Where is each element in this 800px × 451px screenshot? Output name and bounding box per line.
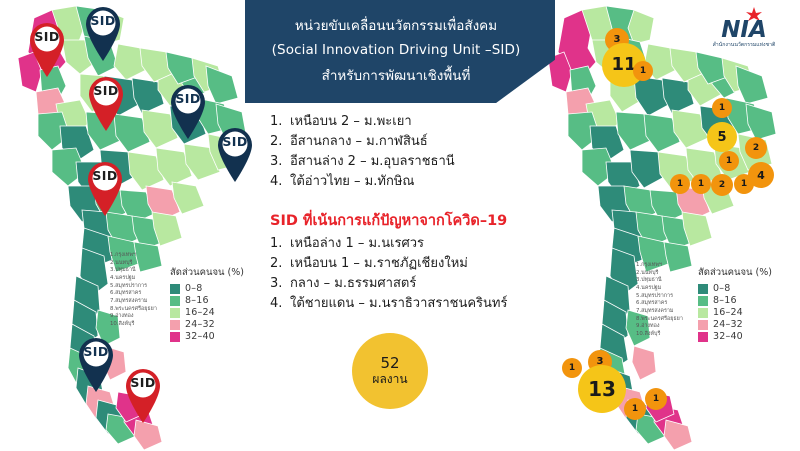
list-text: ใต้ชายแดน – ม.นราธิวาสราชนครินทร์	[290, 294, 507, 314]
province-index-item: 3.ปทุมธานี	[110, 267, 157, 275]
list-text: เหนือบน 2 – ม.พะเยา	[290, 112, 412, 132]
sid-pin-label: SID	[80, 13, 126, 28]
province-index-item: 3.ปทุมธานี	[636, 277, 683, 285]
legend-label: 32–40	[185, 330, 215, 344]
banner-line-thai-1: หน่วยขับเคลื่อนนวัตกรรมเพื่อสังคม	[295, 14, 497, 36]
sid-map-pin[interactable]: SID	[212, 125, 258, 183]
banner-line-english: (Social Innovation Driving Unit –SID)	[272, 42, 521, 58]
sid-map-pin[interactable]: SID	[24, 20, 70, 78]
list-item: 1.เหนือล่าง 1 – ม.นเรศวร	[270, 234, 560, 254]
province-index-item: 6.สมุทรสาคร	[110, 290, 157, 298]
sid-map-pin[interactable]: SID	[73, 335, 119, 393]
list-number: 3.	[270, 152, 290, 172]
count-bubble: 2	[745, 137, 767, 159]
list-item: 4.ใต้อ่าวไทย – ม.ทักษิณ	[270, 172, 560, 192]
list-item: 2.เหนือบน 1 – ม.ราชภัฏเชียงใหม่	[270, 254, 560, 274]
legend-swatch	[170, 308, 180, 318]
nia-tagline: สำนักงานนวัตกรรมแห่งชาติ	[713, 41, 776, 48]
legend-right: สัดส่วนคนจน (%) 0–8 8–16 16–24 24–32 32–…	[698, 266, 772, 343]
slide-canvas: 1.กรุงเทพฯ 2.นนทบุรี 3.ปทุมธานี 4.นครปฐม…	[0, 0, 800, 451]
sid-pin-label: SID	[165, 91, 211, 106]
legend-swatch	[698, 284, 708, 294]
legend-left: สัดส่วนคนจน (%) 0–8 8–16 16–24 24–32 32–…	[170, 266, 244, 343]
covid-university-list: 1.เหนือล่าง 1 – ม.นเรศวร 2.เหนือบน 1 – ม…	[270, 234, 560, 315]
province-index-item: 1.กรุงเทพฯ	[636, 262, 683, 270]
count-bubble: 1	[734, 174, 754, 194]
covid-section-heading: SID ที่เน้นการแก้ปัญหาจากโควิด–19	[270, 209, 560, 232]
banner-line-thai-2: สำหรับการพัฒนาเชิงพื้นที่	[322, 64, 471, 86]
legend-title: สัดส่วนคนจน (%)	[170, 266, 244, 280]
list-number: 2.	[270, 132, 290, 152]
province-index-item: 6.สมุทรสาคร	[636, 300, 683, 308]
province-index-left: 1.กรุงเทพฯ 2.นนทบุรี 3.ปทุมธานี 4.นครปฐม…	[110, 252, 157, 329]
legend-swatch	[170, 284, 180, 294]
thailand-map-right: 1.กรุงเทพฯ 2.นนทบุรี 3.ปทุมธานี 4.นครปฐม…	[530, 0, 800, 451]
sid-map-pin[interactable]: SID	[83, 74, 129, 132]
count-bubble: 13	[578, 365, 626, 413]
sid-pin-label: SID	[120, 375, 166, 390]
legend-swatch	[170, 296, 180, 306]
legend-swatch	[698, 332, 708, 342]
sid-map-pin[interactable]: SID	[120, 366, 166, 424]
sid-pin-label: SID	[73, 344, 119, 359]
count-bubble: 2	[711, 174, 733, 196]
count-bubble: 1	[712, 98, 732, 118]
list-number: 4.	[270, 172, 290, 192]
province-index-item: 9.อ่างทอง	[110, 313, 157, 321]
sid-university-list: 1.เหนือบน 2 – ม.พะเยา 2.อีสานกลาง – ม.กา…	[270, 112, 560, 193]
sid-pin-label: SID	[24, 29, 70, 44]
legend-swatch	[698, 296, 708, 306]
count-bubble: 1	[562, 358, 582, 378]
list-number: 3.	[270, 274, 290, 294]
province-index-item: 9.อ่างทอง	[636, 323, 683, 331]
list-number: 1.	[270, 234, 290, 254]
province-index-item: 1.กรุงเทพฯ	[110, 252, 157, 260]
count-bubble: 1	[645, 388, 667, 410]
sid-map-pin[interactable]: SID	[82, 159, 128, 217]
list-text: เหนือล่าง 1 – ม.นเรศวร	[290, 234, 424, 254]
legend-row: 32–40	[698, 331, 772, 343]
legend-title: สัดส่วนคนจน (%)	[698, 266, 772, 280]
list-item: 3.อีสานล่าง 2 – ม.อุบลราชธานี	[270, 152, 560, 172]
province-index-item: 4.นครปฐม	[636, 285, 683, 293]
list-number: 2.	[270, 254, 290, 274]
list-item: 3.กลาง – ม.ธรรมศาสตร์	[270, 274, 560, 294]
legend-swatch	[698, 320, 708, 330]
count-bubble: 1	[633, 61, 653, 81]
province-index-item: 7.สมุทรสงคราม	[636, 308, 683, 316]
nia-wordmark: NIA	[721, 17, 767, 43]
count-bubble: 1	[691, 174, 711, 194]
total-works-bubble: 52 ผลงาน	[352, 333, 428, 409]
total-works-label: ผลงาน	[372, 373, 407, 387]
legend-swatch	[698, 308, 708, 318]
count-bubble: 1	[624, 398, 646, 420]
title-banner: หน่วยขับเคลื่อนนวัตกรรมเพื่อสังคม (Socia…	[245, 0, 555, 103]
province-index-item: 4.นครปฐม	[110, 275, 157, 283]
sid-pin-label: SID	[83, 83, 129, 98]
list-number: 4.	[270, 294, 290, 314]
count-bubble: 5	[707, 122, 737, 152]
province-index-item: 7.สมุทรสงคราม	[110, 298, 157, 306]
province-index-item: 10.สิงห์บุรี	[636, 331, 683, 339]
province-index-right: 1.กรุงเทพฯ 2.นนทบุรี 3.ปทุมธานี 4.นครปฐม…	[636, 262, 683, 339]
list-number: 1.	[270, 112, 290, 132]
province-index-item: 10.สิงห์บุรี	[110, 321, 157, 329]
sid-pin-label: SID	[82, 168, 128, 183]
total-works-number: 52	[380, 355, 399, 372]
sid-map-pin[interactable]: SID	[80, 4, 126, 62]
nia-logo: NIA สำนักงานนวัตกรรมแห่งชาติ	[696, 5, 792, 51]
count-bubble: 1	[719, 151, 739, 171]
list-text: อีสานล่าง 2 – ม.อุบลราชธานี	[290, 152, 455, 172]
list-text: อีสานกลาง – ม.กาฬสินธ์	[290, 132, 428, 152]
list-item: 1.เหนือบน 2 – ม.พะเยา	[270, 112, 560, 132]
thailand-choropleth-right	[530, 0, 800, 451]
count-bubble: 1	[670, 174, 690, 194]
legend-swatch	[170, 332, 180, 342]
nia-logo-mark: NIA สำนักงานนวัตกรรมแห่งชาติ	[696, 5, 792, 51]
sid-map-pin[interactable]: SID	[165, 82, 211, 140]
list-text: เหนือบน 1 – ม.ราชภัฏเชียงใหม่	[290, 254, 468, 274]
legend-row: 32–40	[170, 331, 244, 343]
legend-label: 32–40	[713, 330, 743, 344]
legend-swatch	[170, 320, 180, 330]
thailand-map-left: 1.กรุงเทพฯ 2.นนทบุรี 3.ปทุมธานี 4.นครปฐม…	[0, 0, 270, 451]
province-index-item: 8.พระนครศรีอยุธยา	[636, 316, 683, 324]
list-item: 2.อีสานกลาง – ม.กาฬสินธ์	[270, 132, 560, 152]
list-text: ใต้อ่าวไทย – ม.ทักษิณ	[290, 172, 414, 192]
province-index-item: 8.พระนครศรีอยุธยา	[110, 306, 157, 314]
sid-content: 1.เหนือบน 2 – ม.พะเยา 2.อีสานกลาง – ม.กา…	[270, 112, 560, 314]
sid-pin-label: SID	[212, 134, 258, 149]
list-text: กลาง – ม.ธรรมศาสตร์	[290, 274, 416, 294]
list-item: 4.ใต้ชายแดน – ม.นราธิวาสราชนครินทร์	[270, 294, 560, 314]
